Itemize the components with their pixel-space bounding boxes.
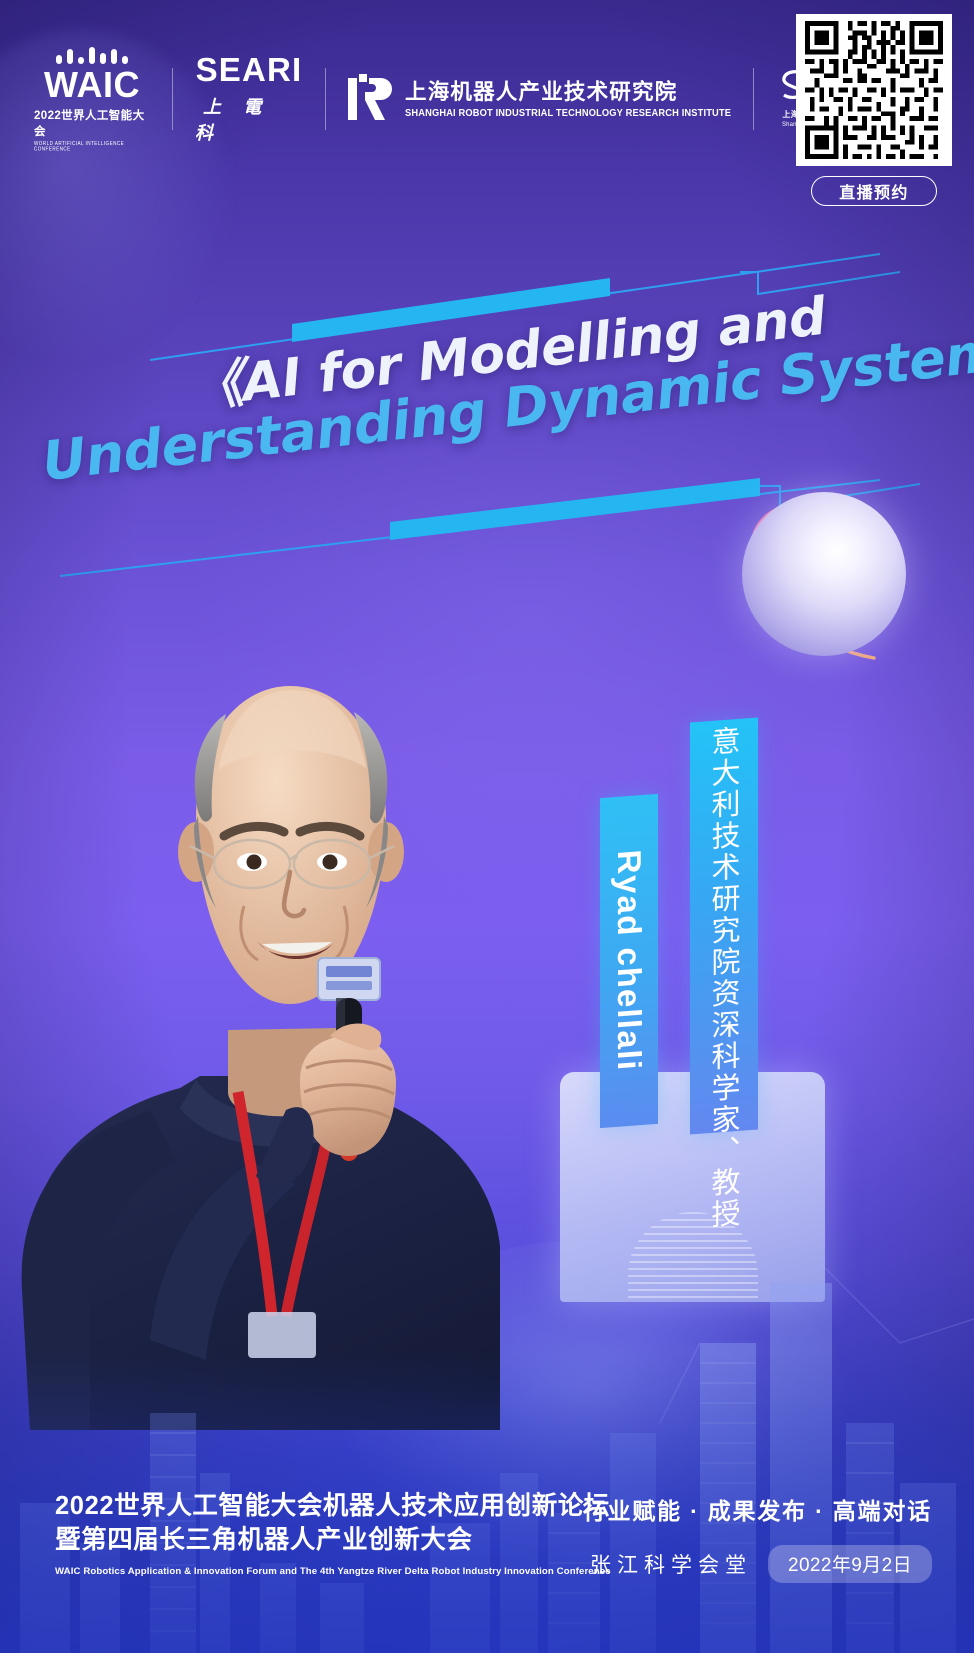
sri-chinese-name: 上海机器人产业技术研究院 (405, 80, 731, 105)
logo-divider-1 (172, 68, 173, 130)
waic-english-name: WORLD ARTIFICIAL INTELLIGENCE CONFERENCE (34, 141, 150, 152)
footer-venue: 张江科学会堂 (584, 1549, 752, 1579)
planet-sphere (742, 492, 906, 656)
seari-wordmark: SEARI (196, 53, 303, 86)
footer-event-title-line2: 暨第四届长三角机器人产业创新大会 (55, 1524, 611, 1558)
footer-slogan: 行业赋能 · 成果发布 · 高端对话 (583, 1492, 932, 1526)
logo-divider-2 (325, 68, 326, 130)
footer-event-title-line1: 2022世界人工智能大会机器人技术应用创新论坛 (55, 1490, 611, 1524)
footer-date-badge: 2022年9月2日 (768, 1545, 932, 1583)
speaker-role: 意大利技术研究院资深科学家、教授 (694, 724, 754, 1132)
sri-english-name: SHANGHAI ROBOT INDUSTRIAL TECHNOLOGY RES… (405, 108, 731, 119)
logo-waic: WAIC 2022世界人工智能大会 WORLD ARTIFICIAL INTEL… (34, 47, 150, 151)
poster-root: WAIC 2022世界人工智能大会 WORLD ARTIFICIAL INTEL… (0, 0, 974, 1653)
speaker-role-text: 意大利技术研究院资深科学家、教授 (703, 724, 745, 1231)
waic-chinese-name: 2022世界人工智能大会 (34, 107, 150, 139)
footer-meta-block: 行业赋能 · 成果发布 · 高端对话 张江科学会堂 2022年9月2日 (583, 1492, 932, 1583)
seari-chinese-name: 上 電 科 (195, 93, 303, 145)
footer-venue-row: 张江科学会堂 2022年9月2日 (583, 1545, 932, 1583)
waic-soundbars-icon (56, 47, 128, 64)
live-reservation-button[interactable]: 直播预约 (811, 176, 937, 206)
footer-event-title-english: WAIC Robotics Application & Innovation F… (55, 1566, 611, 1577)
qr-code-frame[interactable] (796, 14, 952, 166)
qr-block: 直播预约 (796, 14, 952, 206)
logo-shanghai-robot-institute: 上海机器人产业技术研究院 SHANGHAI ROBOT INDUSTRIAL T… (348, 74, 731, 124)
header-logo-bar: WAIC 2022世界人工智能大会 WORLD ARTIFICIAL INTEL… (34, 52, 880, 146)
speaker-portrait (0, 640, 600, 1430)
logo-seari: SEARI 上 電 科 (195, 53, 303, 145)
speaker-name: Ryad chellali (603, 798, 655, 1124)
qr-code-icon[interactable] (803, 21, 945, 159)
logo-divider-3 (753, 68, 754, 130)
waic-wordmark: WAIC (44, 67, 140, 103)
sri-monogram-icon (348, 74, 392, 124)
speaker-name-text: Ryad chellali (610, 849, 648, 1073)
footer-event-block: 2022世界人工智能大会机器人技术应用创新论坛 暨第四届长三角机器人产业创新大会… (55, 1490, 611, 1577)
